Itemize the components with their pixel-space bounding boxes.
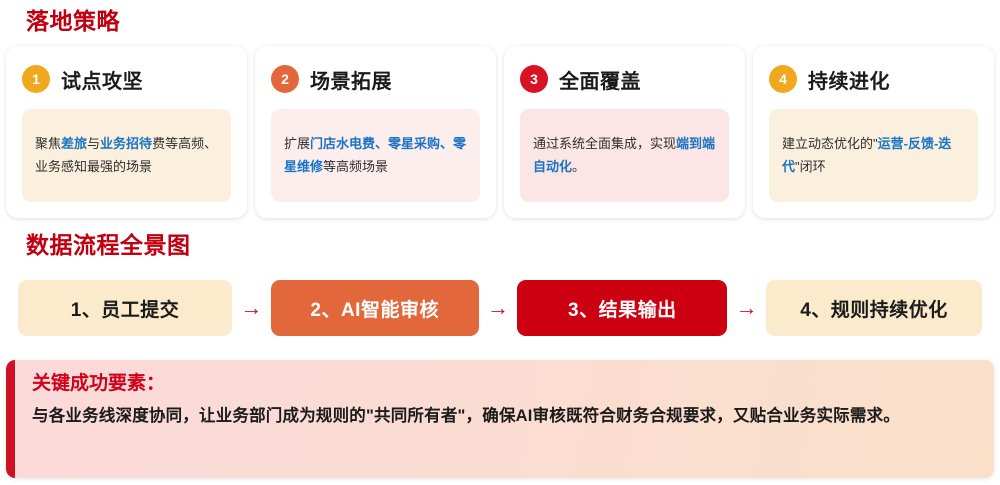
strategy-section-title: 落地策略: [26, 10, 120, 33]
card-header: 3 全面覆盖: [520, 60, 729, 98]
card-body: 通过系统全面集成，实现端到端自动化。: [520, 109, 729, 202]
text-suffix: 等高频场景: [323, 159, 388, 174]
flow-step-4[interactable]: 4、规则持续优化: [766, 280, 982, 336]
flow-arrow-icon: →: [232, 297, 271, 319]
strategy-card-4[interactable]: 4 持续进化 建立动态优化的"运营-反馈-迭代"闭环: [753, 46, 994, 218]
text-suffix: 。: [572, 159, 585, 174]
strategy-card-3[interactable]: 3 全面覆盖 通过系统全面集成，实现端到端自动化。: [504, 46, 745, 218]
card-title: 试点攻坚: [61, 65, 143, 94]
card-header: 2 场景拓展: [271, 60, 480, 98]
key-content: 关键成功要素： 与各业务线深度协同，让业务部门成为规则的"共同所有者"，确保AI…: [15, 360, 994, 478]
card-header: 4 持续进化: [769, 60, 978, 98]
text-mid: 与: [87, 136, 100, 151]
data-flow-chain: 1、员工提交 → 2、AI智能审核 → 3、结果输出 → 4、规则持续优化: [18, 278, 982, 338]
flow-step-2[interactable]: 2、AI智能审核: [271, 280, 479, 336]
card-description: 扩展门店水电费、零星采购、零星维修等高频场景: [284, 133, 467, 178]
slide-root: 落地策略 1 试点攻坚 聚焦差旅与业务招待费等高频、业务感知最强的场景 2 场景…: [0, 0, 1000, 485]
card-body: 聚焦差旅与业务招待费等高频、业务感知最强的场景: [22, 109, 231, 202]
step-number-badge: 2: [271, 65, 299, 93]
step-number-badge: 4: [769, 65, 797, 93]
text-prefix: 建立动态优化的": [782, 136, 878, 151]
highlight-2: 业务招待: [100, 136, 152, 151]
flow-arrow-icon: →: [479, 297, 518, 319]
text-prefix: 扩展: [284, 136, 310, 151]
flow-step-1[interactable]: 1、员工提交: [18, 280, 232, 336]
text-suffix: "闭环: [795, 159, 826, 174]
card-body: 扩展门店水电费、零星采购、零星维修等高频场景: [271, 109, 480, 202]
strategy-card-2[interactable]: 2 场景拓展 扩展门店水电费、零星采购、零星维修等高频场景: [255, 46, 496, 218]
text-prefix: 通过系统全面集成，实现: [533, 136, 676, 151]
highlight-1: 差旅: [61, 136, 87, 151]
accent-bar: [6, 360, 15, 478]
flow-section-title: 数据流程全景图: [26, 234, 191, 257]
card-description: 建立动态优化的"运营-反馈-迭代"闭环: [782, 133, 965, 178]
strategy-card-row: 1 试点攻坚 聚焦差旅与业务招待费等高频、业务感知最强的场景 2 场景拓展 扩展…: [6, 46, 994, 218]
card-title: 全面覆盖: [559, 65, 641, 94]
card-title: 持续进化: [808, 65, 890, 94]
strategy-card-1[interactable]: 1 试点攻坚 聚焦差旅与业务招待费等高频、业务感知最强的场景: [6, 46, 247, 218]
flow-step-3[interactable]: 3、结果输出: [517, 280, 727, 336]
step-number-badge: 1: [22, 65, 50, 93]
text-prefix: 聚焦: [35, 136, 61, 151]
card-header: 1 试点攻坚: [22, 60, 231, 98]
key-factors-text: 与各业务线深度协同，让业务部门成为规则的"共同所有者"，确保AI审核既符合财务合…: [32, 403, 976, 430]
card-description: 聚焦差旅与业务招待费等高频、业务感知最强的场景: [35, 133, 218, 178]
key-factors-heading: 关键成功要素：: [32, 373, 976, 396]
card-title: 场景拓展: [310, 65, 392, 94]
key-success-factors-panel: 关键成功要素： 与各业务线深度协同，让业务部门成为规则的"共同所有者"，确保AI…: [6, 360, 994, 478]
card-body: 建立动态优化的"运营-反馈-迭代"闭环: [769, 109, 978, 202]
card-description: 通过系统全面集成，实现端到端自动化。: [533, 133, 716, 178]
flow-arrow-icon: →: [727, 297, 766, 319]
step-number-badge: 3: [520, 65, 548, 93]
